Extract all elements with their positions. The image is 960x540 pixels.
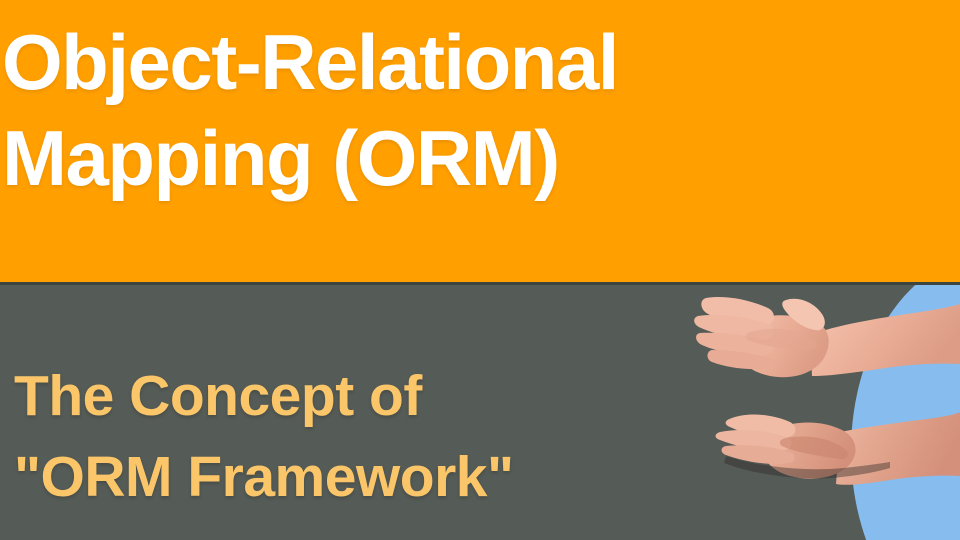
title-line-2: Mapping (ORM) xyxy=(0,110,910,206)
presentation-slide: Object-Relational Mapping (ORM) The Conc… xyxy=(0,0,960,540)
page-title: Object-Relational Mapping (ORM) xyxy=(0,14,910,206)
title-line-1: Object-Relational xyxy=(0,14,910,110)
subtitle-line-1: The Concept of xyxy=(14,356,774,437)
subtitle-line-2: "ORM Framework" xyxy=(14,437,774,518)
page-subtitle: The Concept of "ORM Framework" xyxy=(14,356,774,518)
